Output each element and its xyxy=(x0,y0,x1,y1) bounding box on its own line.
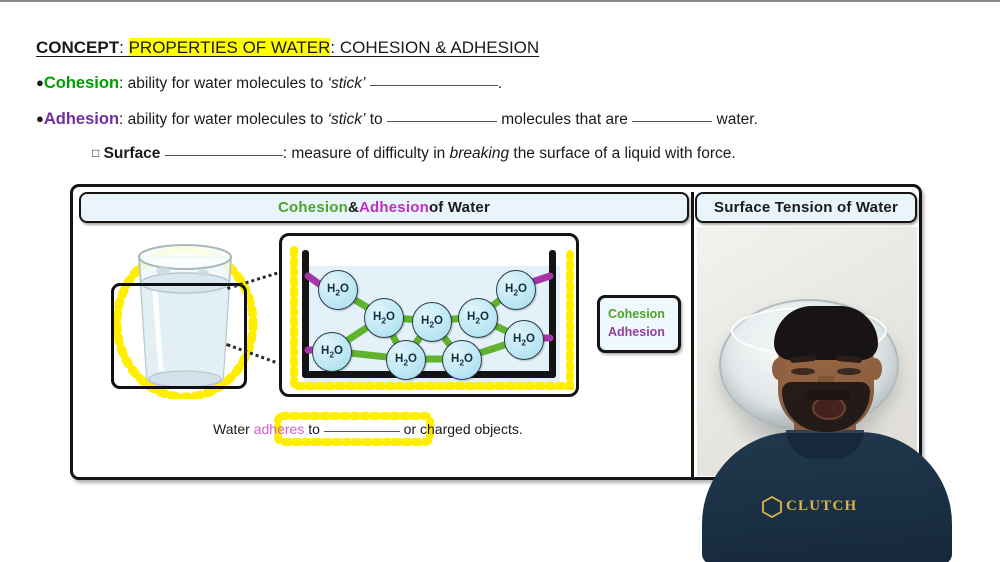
bullet-marker-icon: ● xyxy=(36,75,44,90)
term-cohesion: Cohesion xyxy=(44,74,119,92)
caption-adheres: adheres xyxy=(254,421,305,437)
zoom-selection-box xyxy=(111,283,247,389)
water-molecule-diagram: H2O H2O H2O H2O H2O H2O H2O H2O H2O xyxy=(279,233,579,397)
figure-caption: Water adheres to or charged objects. xyxy=(213,421,523,437)
cohesion-quoted: ‘stick’ xyxy=(328,75,366,92)
concept-rest: : COHESION & ADHESION xyxy=(330,38,539,57)
fill-blank-adhesion-2[interactable] xyxy=(632,121,712,122)
water-molecule: H2O xyxy=(496,270,536,310)
header-cohesion-word: Cohesion xyxy=(278,199,348,216)
presenter-eye-right xyxy=(837,368,861,375)
water-molecule: H2O xyxy=(312,332,352,372)
presenter-ear-left xyxy=(772,358,786,380)
legend-cohesion: Cohesion xyxy=(608,305,678,323)
water-molecule: H2O xyxy=(364,298,404,338)
adhesion-text-3: molecules that are xyxy=(497,111,632,128)
bullet-adhesion: ●Adhesion: ability for water molecules t… xyxy=(36,110,758,129)
surface-tail: the surface of a liquid with force. xyxy=(509,145,736,162)
adhesion-text-2: to xyxy=(365,111,387,128)
water-molecule: H2O xyxy=(442,340,482,380)
fill-blank-adhesion-1[interactable] xyxy=(387,121,497,122)
cohesion-tail: . xyxy=(498,75,502,92)
bullet-surface-tension: □ Surface : measure of difficulty in bre… xyxy=(92,145,736,163)
water-molecule: H2O xyxy=(504,320,544,360)
glass-of-water-illustration xyxy=(95,231,275,399)
legend-adhesion: Adhesion xyxy=(608,323,678,341)
concept-label: CONCEPT xyxy=(36,38,119,57)
cohesion-text-1: : ability for water molecules to xyxy=(119,75,327,92)
square-bullet-icon: □ xyxy=(92,146,99,160)
surface-text: : measure of difficulty in xyxy=(283,145,450,162)
caption-lead: Water xyxy=(213,421,254,437)
concept-title: CONCEPT: PROPERTIES OF WATER: COHESION &… xyxy=(36,38,539,58)
header-cohesion-adhesion: Cohesion & Adhesion of Water xyxy=(79,192,689,223)
top-divider xyxy=(0,0,1000,2)
term-surface: Surface xyxy=(104,145,161,162)
header-adhesion-word: Adhesion xyxy=(359,199,429,216)
adhesion-text-1: : ability for water molecules to xyxy=(119,111,327,128)
water-molecule: H2O xyxy=(412,302,452,342)
presenter-eye-left xyxy=(791,368,815,375)
caption-mid: or charged xyxy=(400,421,475,437)
header-of-water: of Water xyxy=(429,199,490,216)
presenter-ear-right xyxy=(868,358,882,380)
presenter-video-overlay: CLUTCH xyxy=(690,300,970,562)
fill-blank-caption[interactable] xyxy=(324,431,400,432)
bullet-cohesion: ●Cohesion: ability for water molecules t… xyxy=(36,74,502,93)
fill-blank-surface[interactable] xyxy=(165,155,283,156)
surface-italic: breaking xyxy=(450,145,509,162)
water-molecule: H2O xyxy=(458,298,498,338)
caption-to: to xyxy=(304,421,323,437)
header-amp: & xyxy=(348,199,359,216)
adhesion-quoted: ‘stick’ xyxy=(328,111,366,128)
water-molecule: H2O xyxy=(318,270,358,310)
bullet-marker-icon: ● xyxy=(36,111,44,126)
presenter-hair xyxy=(774,306,878,360)
presenter-mustache xyxy=(804,390,850,400)
bond-color-legend: Cohesion Adhesion xyxy=(597,295,681,353)
clutch-hexagon-logo-icon xyxy=(762,496,782,518)
clutch-brand-text: CLUTCH xyxy=(786,498,857,515)
concept-colon: : xyxy=(119,38,128,57)
adhesion-tail: water. xyxy=(712,111,758,128)
term-adhesion: Adhesion xyxy=(44,110,119,128)
water-molecule: H2O xyxy=(386,340,426,380)
caption-tail: objects. xyxy=(475,421,523,437)
concept-highlight: PROPERTIES OF WATER xyxy=(129,38,331,57)
header-surface-tension: Surface Tension of Water xyxy=(695,192,917,223)
fill-blank-cohesion[interactable] xyxy=(370,85,498,86)
